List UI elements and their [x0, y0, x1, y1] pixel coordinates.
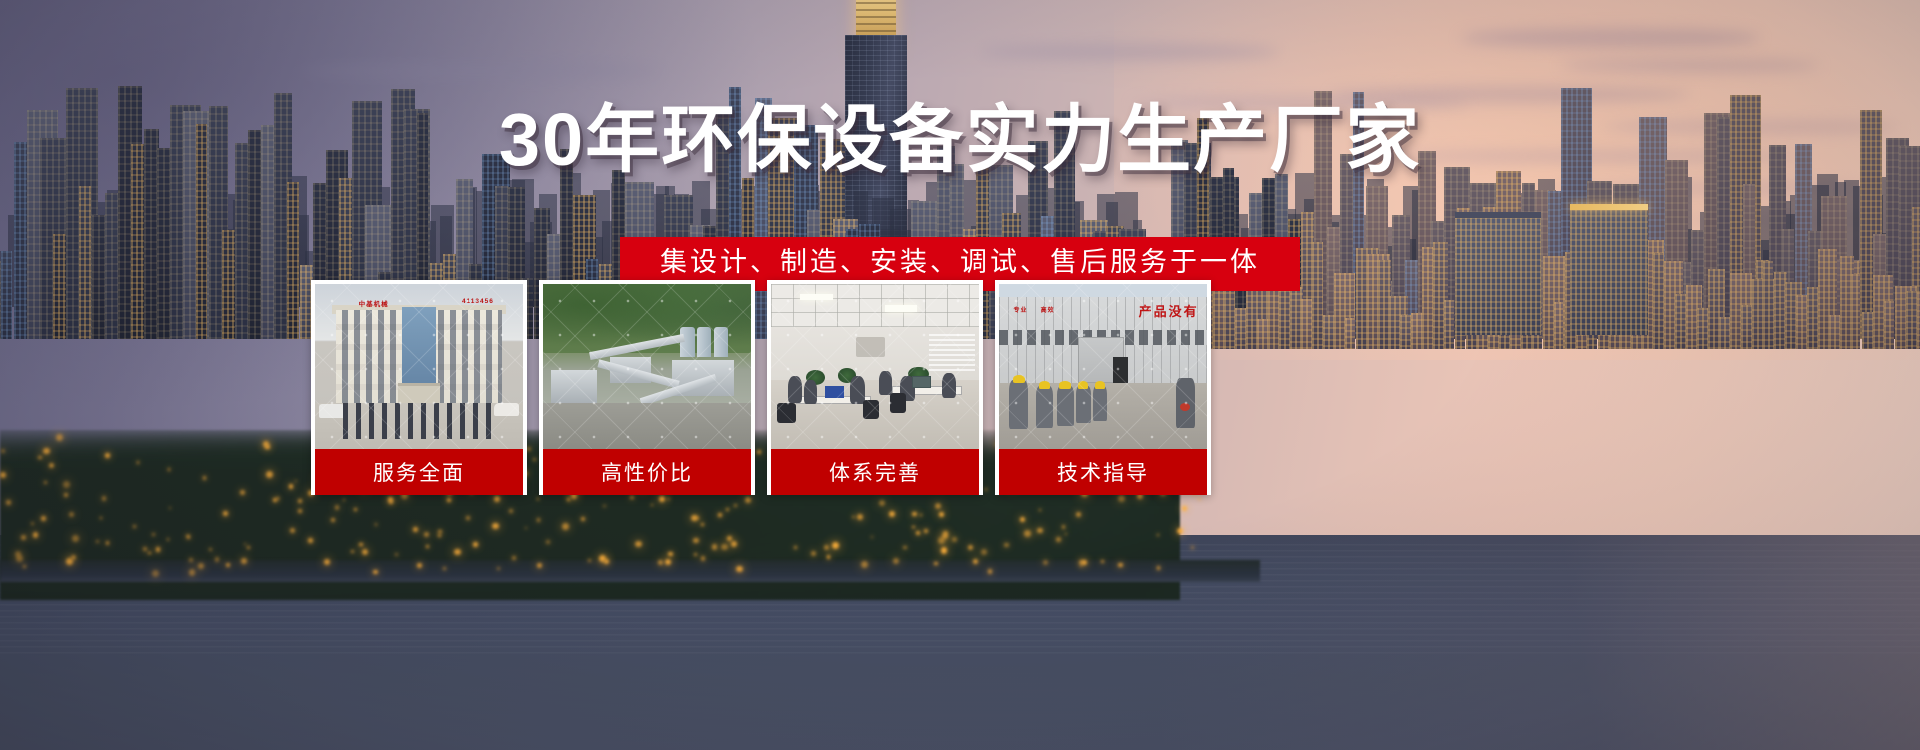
office-ceiling — [771, 284, 979, 327]
storage-silo — [714, 327, 729, 357]
office-chair — [777, 403, 796, 423]
office-worker — [879, 371, 891, 394]
factory-slogan-sign: 产品没有 — [1139, 301, 1199, 320]
company-headquarters-building-photo: 中基机械 4113456 — [315, 284, 523, 449]
factory-small-sign: 专业 — [1014, 305, 1028, 314]
aerial-industrial-plant-photo — [543, 284, 751, 449]
feature-card[interactable]: 中基机械 4113456 服务全面 — [311, 280, 527, 495]
staff-lineup — [340, 403, 498, 439]
factory-worker — [1036, 386, 1053, 427]
feature-card-label: 技术指导 — [999, 449, 1207, 495]
banner-content: 30年环保设备实力生产厂家 集设计、制造、安装、调试、售后服务于一体 中基机械 … — [0, 0, 1920, 750]
factory-worker — [1009, 380, 1028, 430]
factory-worker — [1057, 386, 1074, 426]
hard-hat — [1095, 381, 1105, 388]
building-company-sign: 中基机械 — [359, 298, 389, 308]
feature-card-label: 服务全面 — [315, 449, 523, 495]
feature-card[interactable]: 产品没有 专业 高效 — [995, 280, 1211, 495]
wall-logo-decal — [856, 337, 885, 357]
storage-silo — [697, 327, 712, 357]
feature-card-list: 中基机械 4113456 服务全面 — [311, 280, 1561, 495]
office-worker — [804, 380, 816, 405]
hero-banner: 30年环保设备实力生产厂家 集设计、制造、安装、调试、售后服务于一体 中基机械 … — [0, 0, 1920, 750]
office-chair — [863, 400, 880, 420]
feature-card[interactable]: 体系完善 — [767, 280, 983, 495]
desk-monitor — [825, 386, 844, 398]
photo-scene: 中基机械 4113456 — [315, 284, 523, 449]
feature-card[interactable]: 高性价比 — [539, 280, 755, 495]
feature-card-label: 高性价比 — [543, 449, 751, 495]
office-chair — [890, 393, 907, 413]
ceiling-light — [800, 294, 833, 301]
office-window-blinds — [929, 334, 975, 374]
hard-hat — [1039, 381, 1050, 388]
hard-hat — [1078, 381, 1088, 388]
desk-monitor — [912, 376, 931, 388]
banner-headline: 30年环保设备实力生产厂家 — [0, 100, 1920, 180]
office-worker — [850, 376, 865, 404]
office-worker — [942, 373, 957, 398]
building-phone-sign: 4113456 — [462, 298, 494, 305]
hard-hat — [1059, 381, 1070, 388]
feature-card-label: 体系完善 — [771, 449, 979, 495]
factory-worker — [1093, 386, 1108, 421]
factory-side-door — [1113, 357, 1128, 383]
photo-scene: 产品没有 专业 高效 — [999, 284, 1207, 449]
factory-worker — [1076, 386, 1091, 422]
hard-hat — [1013, 375, 1025, 383]
office-interior-staff-photo — [771, 284, 979, 449]
factory-small-sign: 高效 — [1041, 305, 1055, 314]
plant-building — [551, 370, 597, 403]
factory-workers-training-photo: 产品没有 专业 高效 — [999, 284, 1207, 449]
plant-yard — [543, 403, 751, 449]
office-worker — [788, 376, 803, 402]
photo-scene — [771, 284, 979, 449]
ceiling-light — [885, 305, 916, 312]
photo-scene — [543, 284, 751, 449]
